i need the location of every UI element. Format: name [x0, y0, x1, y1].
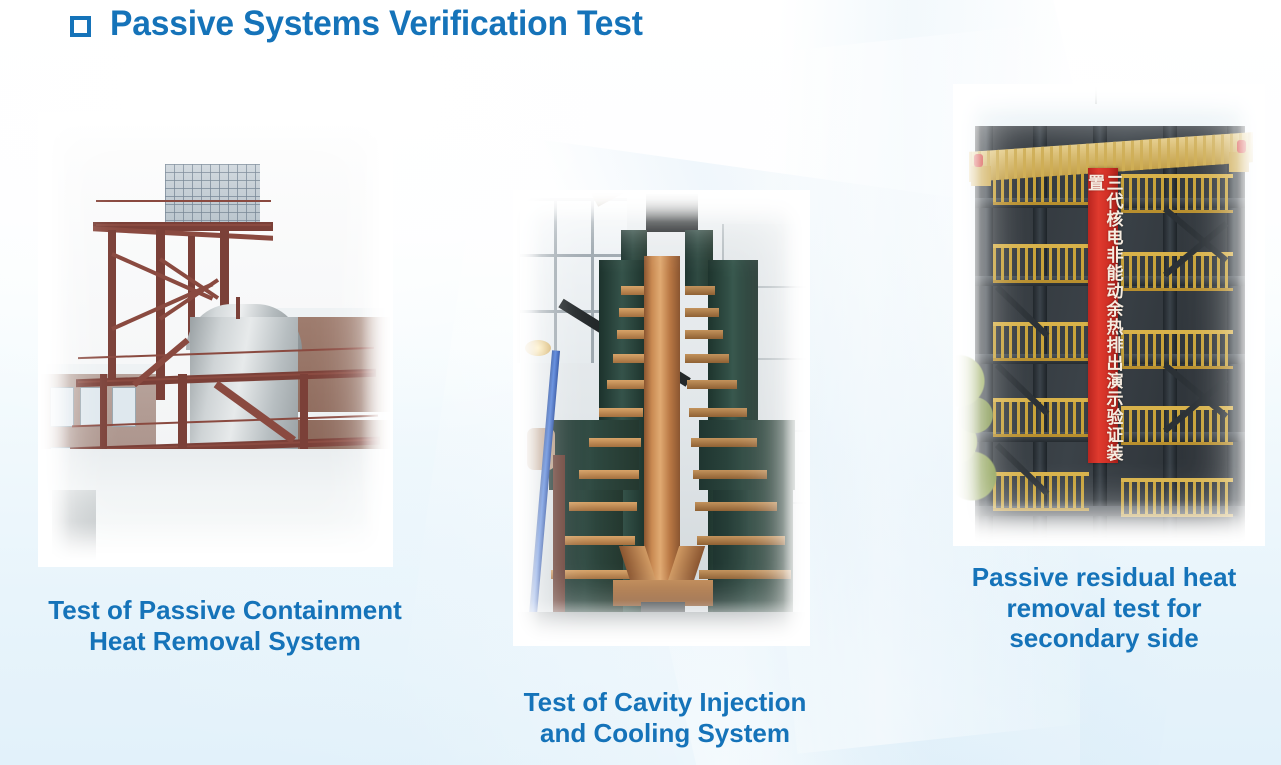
copper-step: [607, 380, 645, 389]
copper-step: [693, 470, 767, 479]
caption-photo-3: Passive residual heat removal test for s…: [930, 562, 1278, 654]
copper-step: [559, 536, 635, 545]
platform-railing: [96, 200, 271, 226]
copper-step: [569, 502, 637, 511]
caption-line: removal test for: [930, 593, 1278, 624]
top-header-block: [646, 194, 698, 232]
work-lamp: [525, 340, 551, 356]
steel-test-tower: 三代核电非能动余热排出演示验证装置: [975, 126, 1245, 546]
banner-text: 三代核电非能动余热排出演示验证装置: [1085, 174, 1122, 463]
copper-step: [685, 286, 715, 295]
vessel-nozzle: [236, 297, 240, 319]
copper-step: [589, 438, 641, 447]
photo-secondary-side-residual-heat: 三代核电非能动余热排出演示验证装置: [953, 84, 1265, 546]
caption-line: Heat Removal System: [0, 626, 450, 657]
copper-step: [685, 354, 729, 363]
photo-2-content: [513, 190, 810, 646]
caption-line: and Cooling System: [455, 718, 875, 749]
caption-line: Passive residual heat: [930, 562, 1278, 593]
caption-line: Test of Passive Containment: [0, 595, 450, 626]
photo-3-content: 三代核电非能动余热排出演示验证装置: [953, 84, 1265, 546]
copper-step: [699, 570, 791, 579]
copper-step: [689, 408, 747, 417]
equipment-box: [52, 490, 96, 560]
corner-cap: [971, 166, 991, 186]
page-title: Passive Systems Verification Test: [110, 4, 643, 44]
corner-cap: [1229, 152, 1249, 172]
copper-step: [619, 308, 647, 317]
copper-step: [579, 470, 639, 479]
window: [50, 387, 74, 427]
copper-step: [697, 536, 785, 545]
copper-step: [691, 438, 757, 447]
copper-step: [687, 380, 737, 389]
lab-floor: [513, 612, 810, 646]
gold-railing: [1121, 252, 1233, 291]
gold-railing: [1121, 478, 1233, 517]
caption-photo-1: Test of Passive Containment Heat Removal…: [0, 595, 450, 656]
square-bullet-icon: [70, 16, 91, 37]
photo-passive-containment-heat-removal: [38, 112, 393, 567]
roof-mast: [1095, 84, 1097, 104]
copper-step: [685, 308, 719, 317]
caption-line: Test of Cavity Injection: [455, 687, 875, 718]
gold-railing: [993, 244, 1089, 283]
window: [112, 387, 136, 427]
red-beacon-light: [974, 154, 983, 167]
caption-photo-2: Test of Cavity Injection and Cooling Sys…: [455, 687, 875, 748]
copper-step: [613, 354, 647, 363]
slide-canvas: Passive Systems Verification Test: [0, 0, 1281, 765]
foreground-tree: [953, 324, 1003, 514]
gold-railing: [1121, 174, 1233, 213]
copper-step: [695, 502, 777, 511]
copper-step: [685, 330, 723, 339]
frame-block: [699, 420, 795, 490]
copper-step: [617, 330, 647, 339]
photo-cavity-injection-cooling: [513, 190, 810, 646]
red-vertical-banner: 三代核电非能动余热排出演示验证装置: [1088, 168, 1118, 463]
caption-line: secondary side: [930, 623, 1278, 654]
copper-step: [599, 408, 643, 417]
copper-column: [644, 256, 680, 586]
photo-1-content: [38, 112, 393, 567]
gold-railing: [1121, 330, 1233, 369]
red-beacon-light: [1237, 140, 1246, 153]
slide-title-bar: Passive Systems Verification Test: [70, 4, 665, 44]
